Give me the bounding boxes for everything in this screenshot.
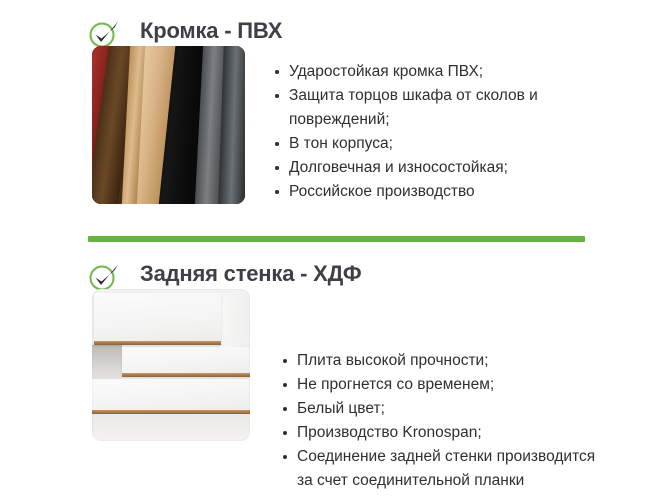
list-item: Ударостойкая кромка ПВХ;: [275, 60, 605, 84]
feature-section-back-panel: Задняя стенка - ХДФ Плита высокой п: [0, 243, 652, 464]
feature-list-edge: Ударостойкая кромка ПВХ; Защита торцов ш…: [275, 60, 605, 204]
section-header-back-panel: Задняя стенка - ХДФ: [0, 243, 652, 289]
panel-bottom: [92, 379, 250, 414]
panel-middle: [122, 347, 250, 377]
list-item: Не прогнется со временем;: [283, 373, 603, 397]
panel-edge-core: [94, 341, 221, 345]
section-header-edge: Кромка - ПВХ: [0, 0, 652, 46]
feature-list-back-panel: Плита высокой прочности; Не прогнется со…: [283, 349, 603, 493]
feature-section-edge: Кромка - ПВХ Ударостойкая кромка ПВХ; За…: [0, 0, 652, 216]
list-item: Российское производство: [275, 180, 605, 204]
panel-shadow: [92, 345, 122, 379]
list-item: Белый цвет;: [283, 397, 603, 421]
list-item: Долговечная и износостойкая;: [275, 156, 605, 180]
list-item: В тон корпуса;: [275, 132, 605, 156]
section-title-back-panel: Задняя стенка - ХДФ: [140, 261, 361, 287]
section-title-edge: Кромка - ПВХ: [140, 18, 282, 44]
product-image-hdf-panel: [92, 289, 250, 441]
list-item: Производство Kronospan;: [283, 421, 603, 445]
section-divider: [88, 236, 585, 242]
panel-edge-core: [122, 373, 250, 377]
list-item: Защита торцов шкафа от сколов и поврежде…: [275, 84, 605, 132]
panel-shadow-lower: [92, 414, 250, 441]
product-image-pvc-edge: [92, 46, 245, 204]
list-item: Плита высокой прочности;: [283, 349, 603, 373]
section-body-edge: Ударостойкая кромка ПВХ; Защита торцов ш…: [0, 46, 652, 216]
product-features-page: Кромка - ПВХ Ударостойкая кромка ПВХ; За…: [0, 0, 652, 500]
list-item: Соединение задней стенки производится за…: [283, 445, 603, 493]
panel-top: [94, 293, 221, 345]
section-body-back-panel: Плита высокой прочности; Не прогнется со…: [0, 289, 652, 464]
